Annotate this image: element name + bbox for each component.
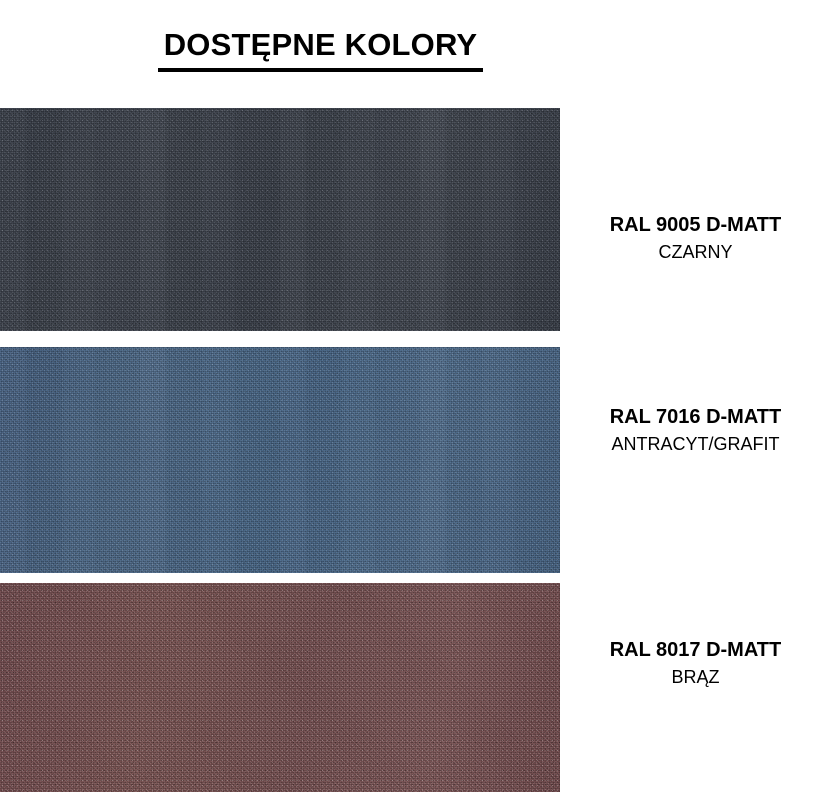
color-name: ANTRACYT/GRAFIT: [560, 433, 831, 456]
color-label-ral-8017: RAL 8017 D-MATT BRĄZ: [560, 638, 831, 689]
color-code: RAL 9005 D-MATT: [560, 213, 831, 238]
swatch-fill: [0, 583, 560, 792]
color-code: RAL 8017 D-MATT: [560, 638, 831, 663]
swatch-speckle-texture: [0, 108, 560, 331]
color-swatch-ral-7016[interactable]: [0, 347, 560, 573]
color-swatch-ral-9005[interactable]: [0, 108, 560, 331]
page-title-container: DOSTĘPNE KOLORY: [0, 26, 831, 72]
color-label-ral-7016: RAL 7016 D-MATT ANTRACYT/GRAFIT: [560, 405, 831, 456]
swatch-speckle-texture: [0, 347, 560, 573]
swatch-fill: [0, 347, 560, 573]
color-name: CZARNY: [560, 241, 831, 264]
color-row: RAL 9005 D-MATT CZARNY: [0, 108, 831, 331]
color-name: BRĄZ: [560, 666, 831, 689]
page-title: DOSTĘPNE KOLORY: [158, 26, 484, 72]
swatch-fill: [0, 108, 560, 331]
color-row: RAL 7016 D-MATT ANTRACYT/GRAFIT: [0, 347, 831, 573]
color-code: RAL 7016 D-MATT: [560, 405, 831, 430]
color-row: RAL 8017 D-MATT BRĄZ: [0, 583, 831, 792]
color-swatch-ral-8017[interactable]: [0, 583, 560, 792]
swatch-speckle-texture: [0, 583, 560, 792]
color-label-ral-9005: RAL 9005 D-MATT CZARNY: [560, 213, 831, 264]
